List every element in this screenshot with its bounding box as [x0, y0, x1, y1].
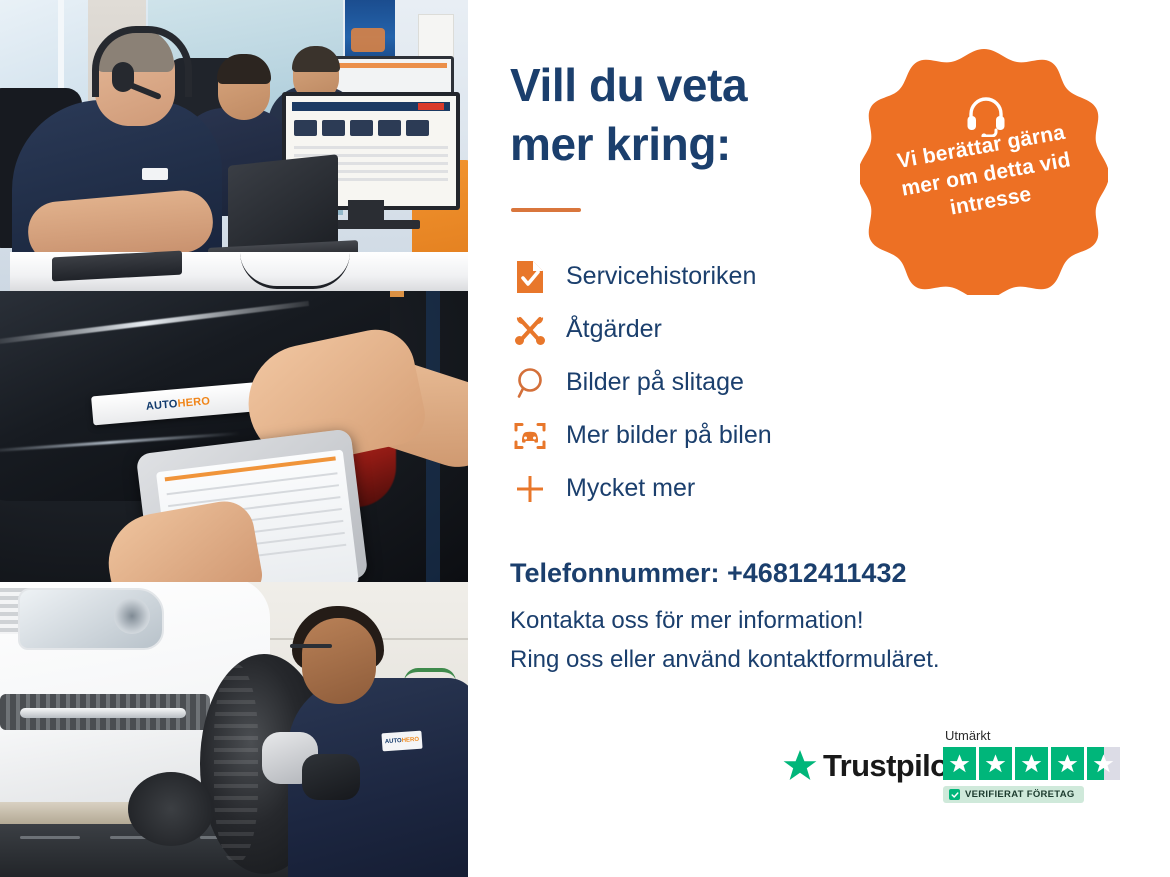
car-headlight	[18, 588, 164, 650]
callout-badge: Vi berättar gärna mer om detta vid intre…	[860, 45, 1108, 295]
brand-auto-text: AUTO	[145, 398, 178, 413]
monitor-screen-header	[292, 102, 450, 111]
trustpilot-rating: Utmärkt	[943, 728, 1133, 804]
feature-item-bilder-pa-slitage: Bilder på slitage	[508, 356, 928, 409]
monitor-screen-cards	[294, 120, 429, 136]
brand-hero-text: HERO	[402, 737, 420, 744]
title-underline-rule	[511, 208, 581, 212]
call-center-photo	[0, 0, 468, 291]
star-half	[1087, 747, 1120, 780]
contact-instructions: Kontakta oss för mer information! Ring o…	[510, 602, 940, 680]
trustpilot-widget[interactable]: Trustpilot Utmärkt	[783, 728, 1133, 824]
feature-label: Åtgärder	[566, 315, 662, 344]
trustpilot-wordmark: Trustpilot	[823, 748, 958, 784]
verified-business-badge: VERIFIERAT FÖRETAG	[943, 786, 1084, 803]
trustpilot-logo[interactable]: Trustpilot	[783, 748, 958, 784]
tablet-screen-line	[168, 484, 339, 507]
mechanic-glove	[302, 754, 360, 800]
star-rating	[943, 747, 1133, 780]
feature-item-mer-bilder-pa-bilen: Mer bilder på bilen	[508, 409, 928, 462]
brand-auto-text: AUTO	[385, 738, 402, 745]
star-filled	[979, 747, 1012, 780]
contact-line-1: Kontakta oss för mer information!	[510, 602, 940, 641]
phone-number-line: Telefonnummer: +46812411432	[510, 558, 906, 589]
mechanic-head	[302, 618, 376, 704]
page-title: Vill du veta mer kring:	[510, 56, 850, 174]
car-inspection-photo: AUTOHERO	[0, 291, 468, 582]
feature-item-mycket-mer: Mycket mer	[508, 462, 928, 515]
plus-icon	[508, 474, 552, 504]
wheel-hub	[128, 772, 214, 846]
feature-label: Mycket mer	[566, 474, 695, 503]
tyre-service-photo: AUTOHERO	[0, 582, 468, 877]
car-scan-icon	[508, 421, 552, 451]
contact-line-2: Ring oss eller använd kontaktformuläret.	[510, 641, 940, 680]
tyre-tread	[214, 664, 258, 864]
rating-label: Utmärkt	[945, 728, 1133, 743]
brand-hero-text: HERO	[177, 395, 211, 410]
document-check-icon	[508, 261, 552, 293]
trustpilot-star-icon	[783, 749, 817, 783]
feature-label: Bilder på slitage	[566, 368, 744, 397]
feature-item-atgarder: Åtgärder	[508, 303, 928, 356]
star-filled	[943, 747, 976, 780]
photo-column: AUTOHERO	[0, 0, 468, 877]
content-panel: Vill du veta mer kring: Servicehistorike…	[468, 0, 1170, 877]
agent-name-badge	[142, 168, 168, 180]
car-chrome-trim	[20, 708, 186, 718]
verified-business-label: VERIFIERAT FÖRETAG	[965, 789, 1075, 800]
promo-page: AUTOHERO	[0, 0, 1170, 877]
mechanic-uniform-logo: AUTOHERO	[381, 731, 422, 752]
check-icon	[949, 789, 960, 800]
magnifier-icon	[508, 367, 552, 399]
tools-icon	[508, 314, 552, 346]
headline-line-1: Vill du veta	[510, 56, 850, 115]
ruler-brand: AUTOHERO	[145, 395, 210, 413]
headline-line-2: mer kring:	[510, 115, 850, 174]
monitor-stand	[348, 200, 384, 222]
feature-label: Mer bilder på bilen	[566, 421, 772, 450]
notice-board	[418, 14, 454, 58]
wall-poster	[345, 0, 395, 62]
feature-label: Servicehistoriken	[566, 262, 756, 291]
star-filled	[1051, 747, 1084, 780]
mechanic-glasses	[290, 644, 332, 648]
star-filled	[1015, 747, 1048, 780]
